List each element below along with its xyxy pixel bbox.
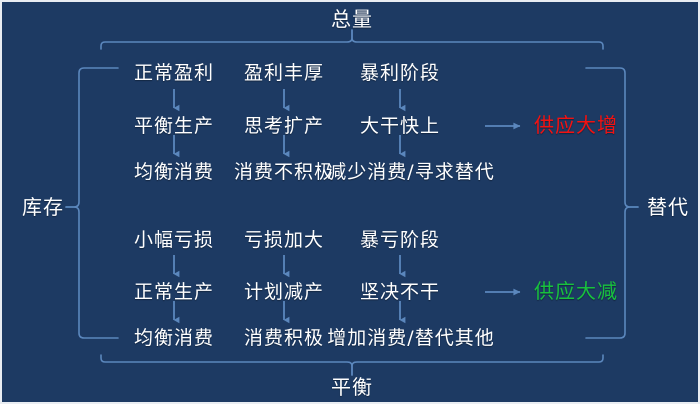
upper-col-2-result: 消费不积极 bbox=[234, 163, 334, 182]
upper-col-1-result: 均衡消费 bbox=[134, 163, 214, 182]
upper-col-2-stage: 盈利丰厚 bbox=[244, 64, 324, 83]
lower-col-1-action: 正常生产 bbox=[134, 283, 214, 302]
lower-col-2-result: 消费积极 bbox=[244, 329, 324, 348]
lower-col-1-result: 均衡消费 bbox=[134, 329, 214, 348]
upper-col-3-action: 大干快上 bbox=[360, 117, 440, 136]
right-label: 替代 bbox=[647, 198, 689, 217]
upper-col-3-stage: 暴利阶段 bbox=[360, 64, 440, 83]
top-label: 总量 bbox=[331, 10, 373, 29]
lower-col-2-action: 计划减产 bbox=[244, 283, 324, 302]
lower-col-3-action: 坚决不干 bbox=[360, 283, 440, 302]
upper-col-1-stage: 正常盈利 bbox=[134, 64, 214, 83]
lower-col-3-result: 增加消费/替代其他 bbox=[327, 329, 494, 348]
lower-col-3-stage: 暴亏阶段 bbox=[360, 231, 440, 250]
lower-group-outcome: 供应大减 bbox=[534, 282, 618, 301]
upper-col-2-action: 思考扩产 bbox=[244, 117, 324, 136]
upper-col-1-action: 平衡生产 bbox=[134, 117, 214, 136]
upper-col-3-result: 减少消费/寻求替代 bbox=[327, 163, 494, 182]
left-label: 库存 bbox=[22, 198, 64, 217]
lower-col-2-stage: 亏损加大 bbox=[244, 231, 324, 250]
diagram-canvas: 总量 平衡 库存 替代 正常盈利 盈利丰厚 暴利阶段 平衡生产 思考扩产 大干快… bbox=[0, 0, 700, 404]
bottom-label: 平衡 bbox=[331, 378, 373, 397]
lower-col-1-stage: 小幅亏损 bbox=[134, 231, 214, 250]
upper-group-outcome: 供应大增 bbox=[534, 116, 618, 135]
